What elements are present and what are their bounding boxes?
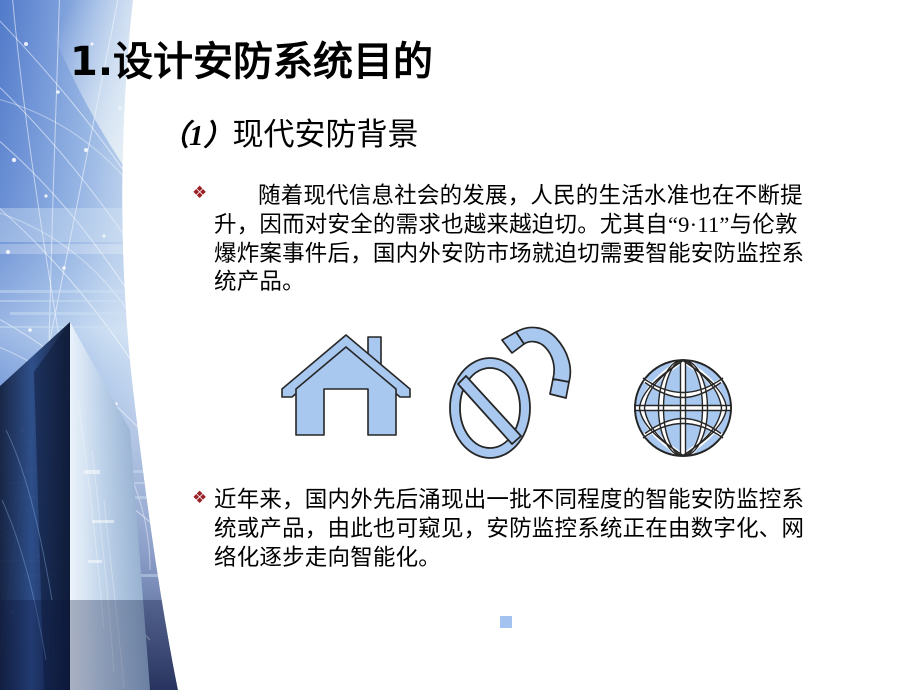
- globe-icon: [628, 358, 740, 463]
- diamond-bullet-icon: ❖: [192, 490, 214, 507]
- house-icon: [280, 323, 412, 450]
- decorative-side-band: [0, 0, 200, 690]
- bottom-square-marker: [500, 616, 512, 628]
- slide-title: 1.设计安防系统目的: [70, 40, 433, 84]
- slide-subtitle: （1）现代安防背景: [160, 118, 419, 153]
- bullet-paragraph: 近年来，国内外先后涌现出一批不同程度的智能安防监控系统或产品，由此也可窥见，安防…: [214, 486, 814, 572]
- subtitle-text: 现代安防背景: [233, 117, 419, 152]
- diamond-bullet-icon: ❖: [192, 185, 214, 202]
- presentation-slide: 1.设计安防系统目的 （1）现代安防背景 ❖ 随着现代信息社会的发展，人民的生活…: [0, 0, 920, 690]
- bullet-paragraph: 随着现代信息社会的发展，人民的生活水准也在不断提升，因而对安全的需求也越来越迫切…: [214, 182, 814, 297]
- bullet-item: ❖ 近年来，国内外先后涌现出一批不同程度的智能安防监控系统或产品，由此也可窥见，…: [192, 486, 832, 572]
- no-phone-icon: [442, 318, 582, 468]
- bullet-item: ❖ 随着现代信息社会的发展，人民的生活水准也在不断提升，因而对安全的需求也越来越…: [192, 182, 832, 297]
- subtitle-number: （1）: [160, 120, 233, 152]
- icon-row: [270, 318, 770, 473]
- prohibition-icon: [450, 358, 530, 458]
